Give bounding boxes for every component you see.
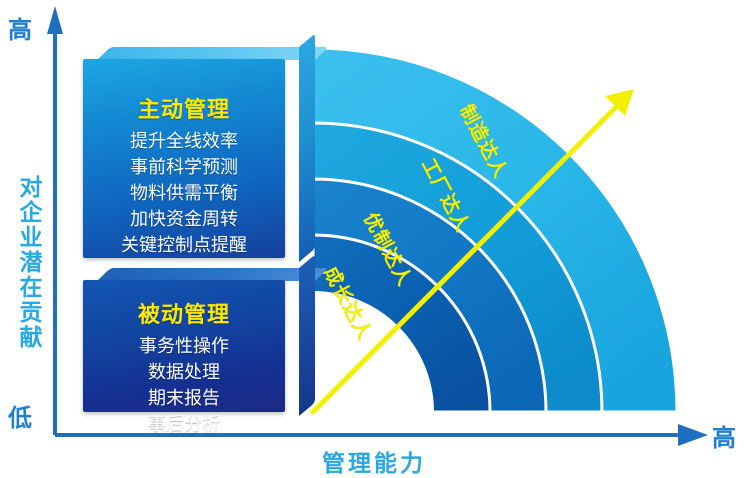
box-right-face (299, 34, 315, 262)
y-axis-high-label: 高 (8, 10, 32, 45)
box-right-face (299, 255, 315, 416)
box-line: 关键控制点提醒 (121, 233, 247, 259)
x-axis-high-label: 高 (712, 418, 736, 453)
box-front-face: 被动管理 事务性操作 数据处理 期末报告 事后分析 (83, 280, 285, 412)
box-line: 事务性操作 (139, 334, 229, 360)
box-line: 数据处理 (148, 360, 220, 386)
box-line: 加快资金周转 (130, 207, 238, 233)
box-line: 提升全线效率 (130, 129, 238, 155)
x-axis-title: 管理能力 (322, 444, 426, 478)
y-axis-low-label: 低 (8, 398, 32, 433)
box-title: 被动管理 (138, 297, 230, 329)
box-line: 事前科学预测 (130, 155, 238, 181)
box-passive-management[interactable]: 被动管理 事务性操作 数据处理 期末报告 事后分析 (83, 268, 315, 416)
box-line: 期末报告 (148, 386, 220, 412)
y-axis-title: 对企业潜在贡献 (6, 128, 40, 396)
box-active-management[interactable]: 主动管理 提升全线效率 事前科学预测 物料供需平衡 加快资金周转 关键控制点提醒 (83, 47, 315, 262)
diagram-canvas: 制造达人 工厂达人 优制达人 成长达人 主动管理 提升全线效率 事前科学预测 物… (0, 0, 750, 478)
box-line: 事后分析 (148, 412, 220, 438)
box-front-face: 主动管理 提升全线效率 事前科学预测 物料供需平衡 加快资金周转 关键控制点提醒 (83, 59, 285, 258)
box-line: 物料供需平衡 (130, 181, 238, 207)
box-title: 主动管理 (138, 92, 230, 124)
